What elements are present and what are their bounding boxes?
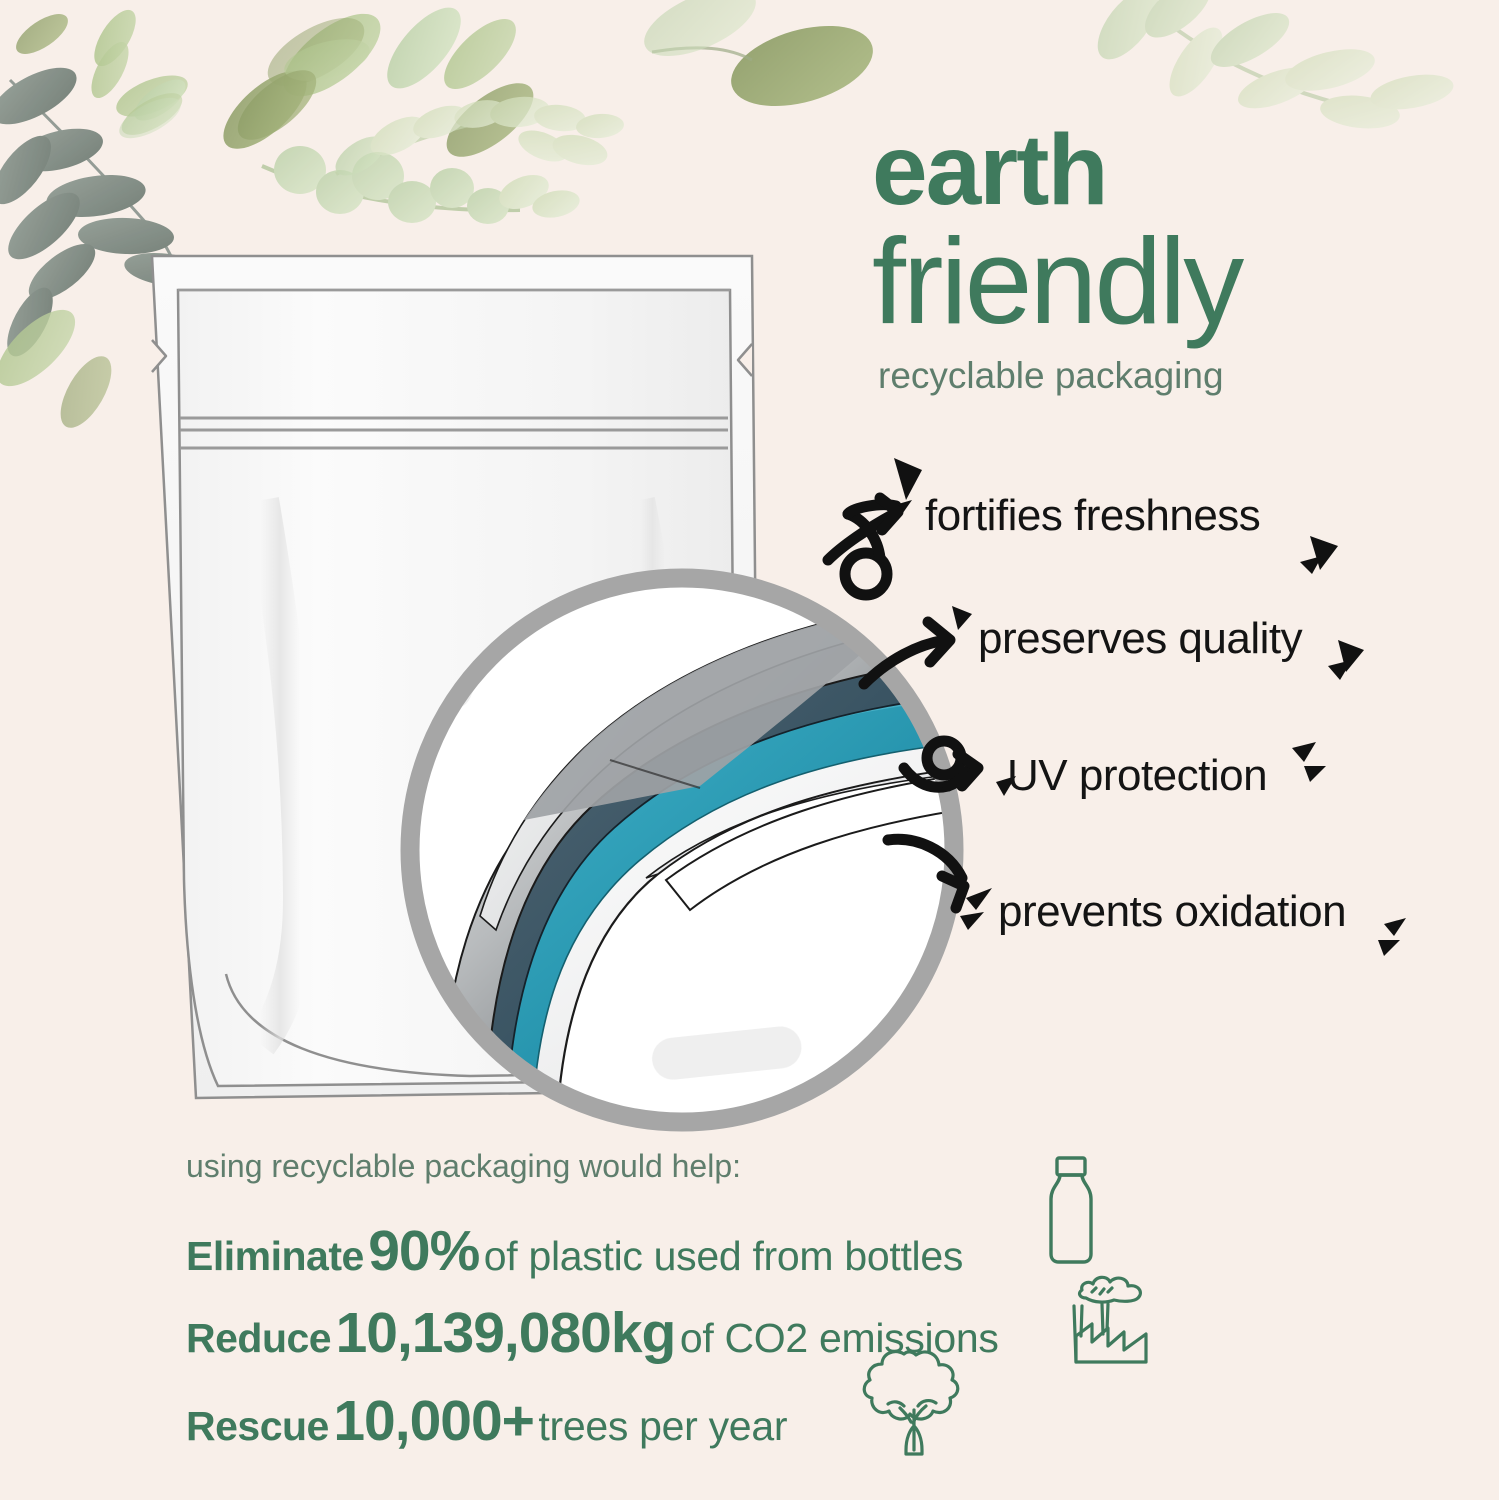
stats-intro: using recyclable packaging would help: [186,1148,1346,1185]
stat-verb: Reduce [186,1315,331,1361]
tree-icon [856,1338,972,1462]
arrow-fortifies-freshness [828,498,898,595]
headline-block: earth friendly recyclable packaging [872,122,1472,398]
stat-value: 90% [368,1219,479,1283]
headline-subtitle: recyclable packaging [878,354,1472,398]
headline-line1: earth [872,122,1472,218]
stat-row-rescue: Rescue 10,000+ trees per year [186,1388,787,1454]
stat-value: 10,000+ [333,1389,534,1453]
feature-label-fortifies-freshness: fortifies freshness [925,492,1260,540]
stat-verb: Rescue [186,1403,329,1449]
arrow-uv-protection [904,741,978,787]
headline-line2: friendly [872,222,1472,340]
stat-value: 10,139,080kg [336,1301,676,1365]
infographic-canvas: earth friendly recyclable packaging fort… [0,0,1499,1500]
stat-row-eliminate: Eliminate 90% of plastic used from bottl… [186,1218,963,1284]
feature-label-prevents-oxidation: prevents oxidation [998,888,1346,936]
arrow-prevents-oxidation [888,839,964,908]
stats-block: using recyclable packaging would help: E… [186,1148,1346,1185]
feature-label-preserves-quality: preserves quality [978,615,1302,663]
arrow-preserves-quality [864,622,950,684]
stat-rest: trees per year [538,1403,787,1449]
factory-icon [1062,1262,1158,1366]
feature-label-uv-protection: UV protection [1007,752,1267,800]
stat-verb: Eliminate [186,1233,364,1279]
bottle-icon [1035,1155,1107,1267]
stat-rest: of plastic used from bottles [484,1233,963,1279]
